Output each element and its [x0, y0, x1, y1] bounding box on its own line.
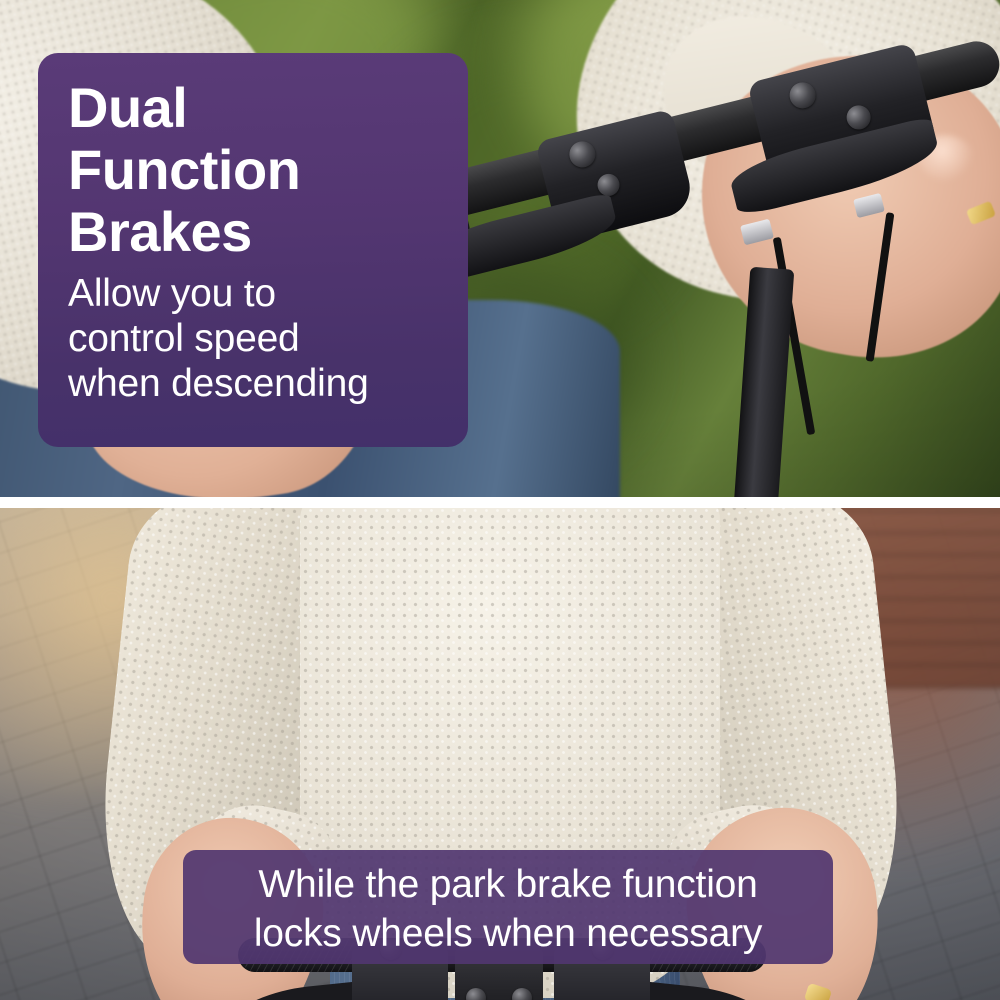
headline-card: Dual Function Brakes Allow you to contro…	[38, 53, 468, 447]
product-feature-graphic: Dual Function Brakes Allow you to contro…	[0, 0, 1000, 1000]
caption-card: While the park brake function locks whee…	[183, 850, 833, 964]
top-panel: Dual Function Brakes Allow you to contro…	[0, 0, 1000, 497]
caption-text: While the park brake function locks whee…	[201, 860, 815, 958]
headline-title: Dual Function Brakes	[68, 77, 438, 263]
panel-divider	[0, 497, 1000, 508]
headline-subtitle: Allow you to control speed when descendi…	[68, 271, 438, 406]
